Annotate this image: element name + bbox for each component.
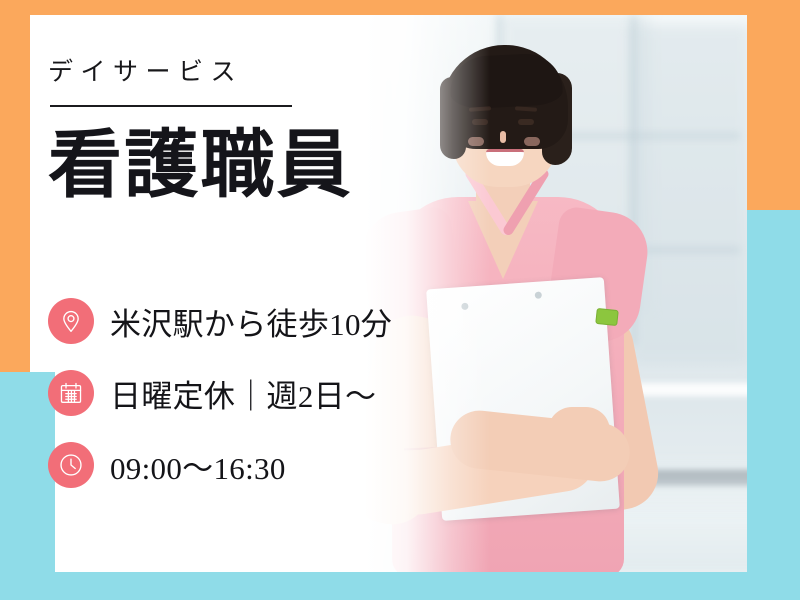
nurse-hand bbox=[548, 407, 610, 461]
frame-band-orange-right bbox=[747, 0, 800, 232]
map-pin-icon bbox=[48, 298, 94, 344]
frame-band-cyan-right bbox=[747, 210, 800, 600]
photo-background-pane bbox=[630, 25, 747, 365]
frame-band-cyan-bottom bbox=[0, 572, 800, 600]
clock-icon bbox=[48, 442, 94, 488]
nurse-eye-right bbox=[518, 119, 534, 125]
nurse-cheek-right bbox=[524, 137, 540, 146]
service-category-label: デイサービス bbox=[48, 60, 468, 85]
detail-row-schedule: 日曜定休｜週2日〜 bbox=[48, 368, 478, 418]
job-advertisement-banner: デイサービス 看護職員 米沢駅から徒歩10分 bbox=[0, 0, 800, 600]
nurse-smile bbox=[486, 149, 524, 166]
headline-divider bbox=[50, 105, 292, 107]
detail-text-schedule: 日曜定休｜週2日〜 bbox=[110, 371, 376, 416]
calendar-icon bbox=[48, 370, 94, 416]
frame-band-cyan-left bbox=[0, 372, 55, 600]
headline-block: デイサービス 看護職員 bbox=[48, 60, 468, 253]
nurse-nose bbox=[500, 131, 506, 143]
detail-text-access: 米沢駅から徒歩10分 bbox=[110, 299, 392, 344]
detail-row-access: 米沢駅から徒歩10分 bbox=[48, 296, 478, 346]
clipboard-rivet bbox=[535, 291, 542, 298]
job-details-list: 米沢駅から徒歩10分 日曜定休｜週2日〜 09:0 bbox=[48, 296, 478, 512]
frame-band-orange-left bbox=[0, 0, 30, 400]
detail-row-hours: 09:00〜16:30 bbox=[48, 440, 478, 490]
job-title: 看護職員 bbox=[48, 129, 468, 203]
detail-text-hours: 09:00〜16:30 bbox=[110, 443, 286, 488]
uniform-green-badge bbox=[595, 308, 619, 326]
frame-band-orange-top bbox=[0, 0, 800, 15]
